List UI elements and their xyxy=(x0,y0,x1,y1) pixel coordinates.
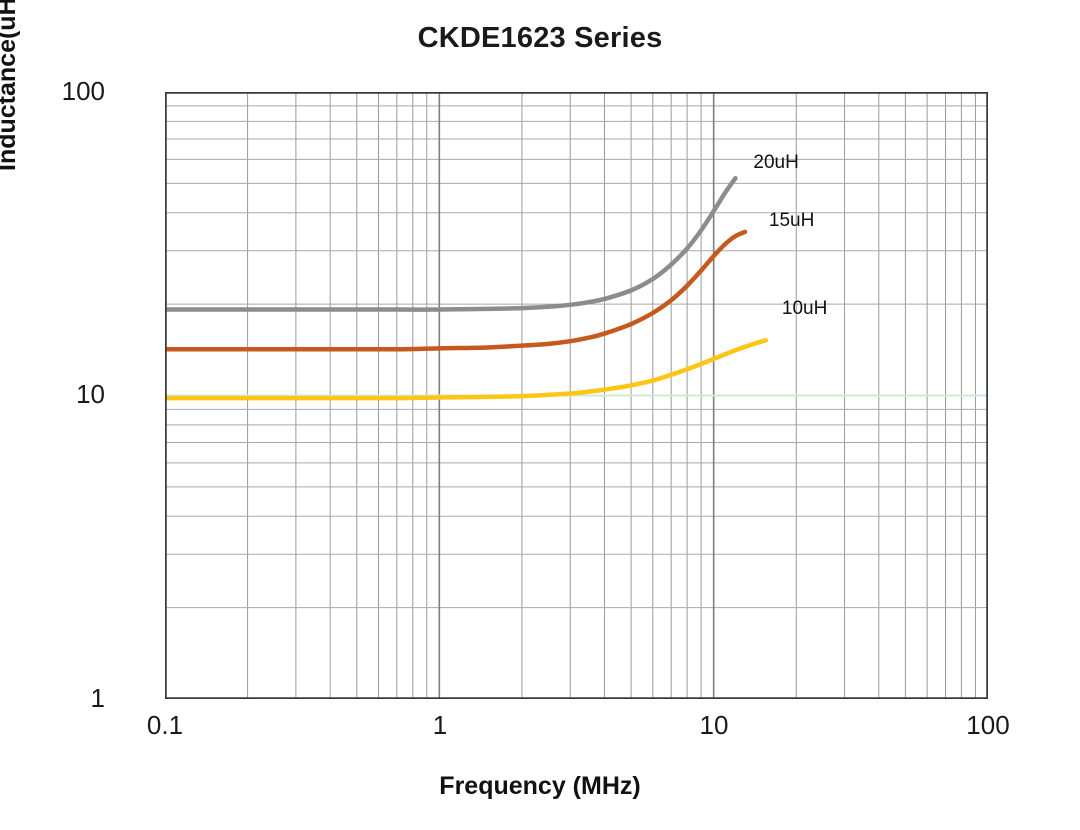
x-tick-0.1: 0.1 xyxy=(95,712,235,738)
x-tick-1: 1 xyxy=(370,712,510,738)
x-axis-label: Frequency (MHz) xyxy=(0,772,1080,801)
y-tick-10: 10 xyxy=(0,381,105,407)
y-axis-label-text: Inductance(uH) xyxy=(0,0,22,240)
series-label-15uh: 15uH xyxy=(769,210,814,232)
y-tick-100: 100 xyxy=(0,78,105,104)
x-tick-100: 100 xyxy=(918,712,1058,738)
plot-area: 20uH 15uH 10uH xyxy=(165,92,988,699)
chart-title: CKDE1623 Series xyxy=(0,22,1080,55)
y-axis-label: Inductance(uH) xyxy=(0,0,22,240)
y-tick-1: 1 xyxy=(0,685,105,711)
plot-svg xyxy=(165,92,988,699)
x-tick-10: 10 xyxy=(644,712,784,738)
series-label-10uh: 10uH xyxy=(782,298,827,320)
chart-page: CKDE1623 Series Inductance(uH) Frequency… xyxy=(0,0,1080,830)
series-label-20uh: 20uH xyxy=(753,152,798,174)
